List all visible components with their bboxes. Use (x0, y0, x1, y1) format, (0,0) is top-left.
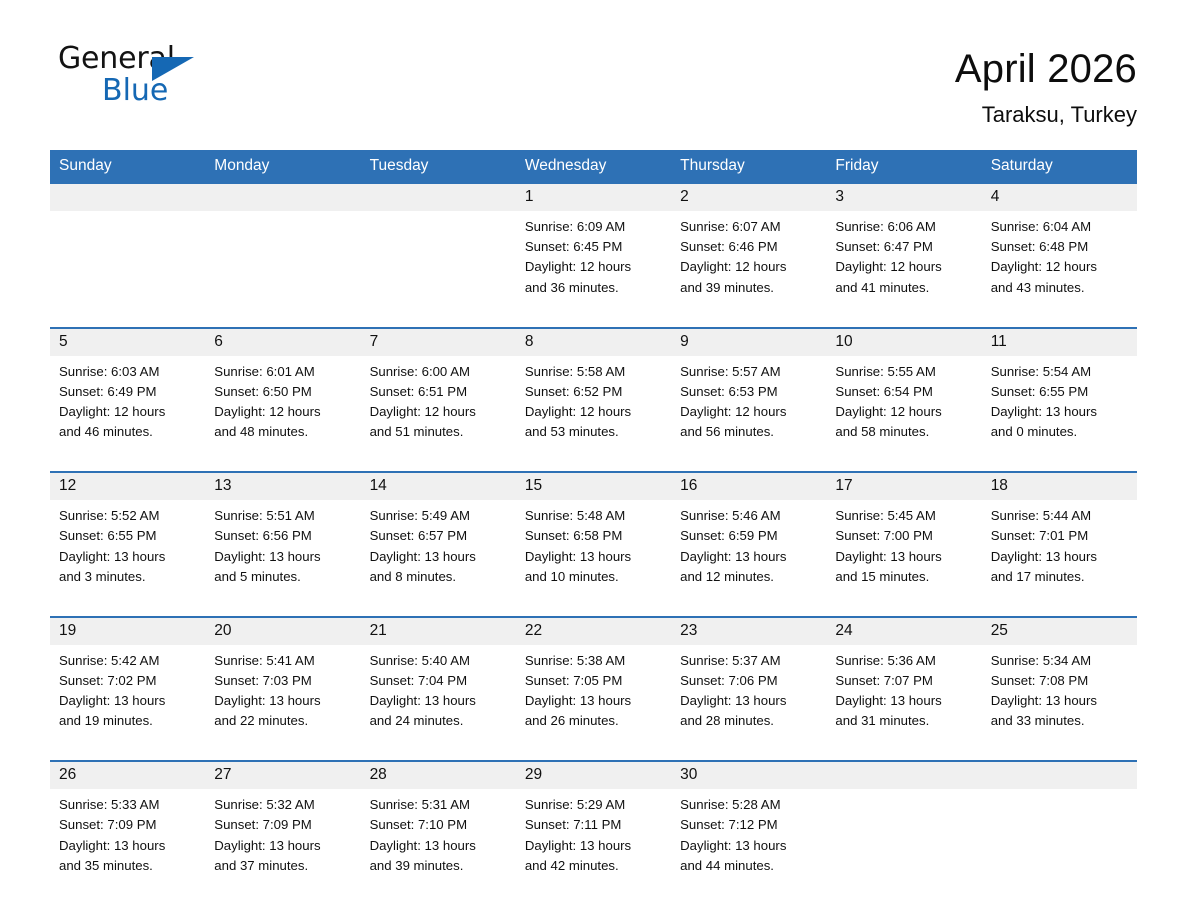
spacer-cell (50, 747, 205, 761)
weekday-header-sunday: Sunday (50, 150, 205, 183)
sunrise-text: Sunrise: 6:03 AM (59, 362, 195, 382)
spacer-cell (671, 458, 826, 472)
daylight-text: Daylight: 13 hours (214, 547, 350, 567)
sunset-text: Sunset: 6:53 PM (680, 382, 816, 402)
daylight-text: Daylight: 13 hours (370, 836, 506, 856)
daylight-text: Daylight: 12 hours (59, 402, 195, 422)
sunrise-text: Sunrise: 5:55 AM (835, 362, 971, 382)
day-number[interactable]: 8 (516, 328, 671, 356)
daylight-text: Daylight: 13 hours (59, 547, 195, 567)
spacer-cell (982, 603, 1137, 617)
sunset-text: Sunset: 7:01 PM (991, 526, 1127, 546)
day-cell-empty (826, 789, 981, 892)
daylight-text: Daylight: 12 hours (835, 402, 971, 422)
day-number[interactable]: 12 (50, 472, 205, 500)
sunset-text: Sunset: 6:55 PM (991, 382, 1127, 402)
spacer-cell (982, 458, 1137, 472)
day-cell[interactable]: Sunrise: 6:04 AMSunset: 6:48 PMDaylight:… (982, 211, 1137, 314)
daylight-text: Daylight: 13 hours (680, 691, 816, 711)
daylight-text: and 8 minutes. (370, 567, 506, 587)
daylight-text: Daylight: 13 hours (214, 691, 350, 711)
spacer-cell (671, 747, 826, 761)
sunrise-text: Sunrise: 5:58 AM (525, 362, 661, 382)
day-number[interactable]: 10 (826, 328, 981, 356)
daylight-text: Daylight: 12 hours (525, 257, 661, 277)
sunrise-text: Sunrise: 5:37 AM (680, 651, 816, 671)
week-daynumber-row: 1234 (50, 183, 1137, 211)
daylight-text: and 28 minutes. (680, 711, 816, 731)
daylight-text: Daylight: 13 hours (370, 691, 506, 711)
sunset-text: Sunset: 7:10 PM (370, 815, 506, 835)
day-number-empty (205, 183, 360, 211)
day-number-empty (50, 183, 205, 211)
day-number[interactable]: 22 (516, 617, 671, 645)
spacer-cell (516, 747, 671, 761)
day-number[interactable]: 29 (516, 761, 671, 789)
weekday-header-wednesday: Wednesday (516, 150, 671, 183)
sunrise-text: Sunrise: 6:09 AM (525, 217, 661, 237)
daylight-text: and 19 minutes. (59, 711, 195, 731)
day-cell-empty (50, 211, 205, 314)
sunrise-text: Sunrise: 5:41 AM (214, 651, 350, 671)
sunset-text: Sunset: 6:57 PM (370, 526, 506, 546)
sunrise-text: Sunrise: 5:54 AM (991, 362, 1127, 382)
spacer-cell (361, 603, 516, 617)
sunset-text: Sunset: 6:49 PM (59, 382, 195, 402)
sunrise-text: Sunrise: 5:36 AM (835, 651, 971, 671)
daylight-text: and 26 minutes. (525, 711, 661, 731)
weekday-header-tuesday: Tuesday (361, 150, 516, 183)
sunset-text: Sunset: 7:03 PM (214, 671, 350, 691)
sunrise-text: Sunrise: 5:52 AM (59, 506, 195, 526)
day-cell-empty (205, 211, 360, 314)
sunrise-text: Sunrise: 5:31 AM (370, 795, 506, 815)
sunrise-text: Sunrise: 5:45 AM (835, 506, 971, 526)
spacer-cell (982, 747, 1137, 761)
day-number[interactable]: 14 (361, 472, 516, 500)
sunrise-text: Sunrise: 5:34 AM (991, 651, 1127, 671)
day-cell[interactable]: Sunrise: 5:32 AMSunset: 7:09 PMDaylight:… (205, 789, 360, 892)
daylight-text: Daylight: 13 hours (370, 547, 506, 567)
day-cell[interactable]: Sunrise: 5:33 AMSunset: 7:09 PMDaylight:… (50, 789, 205, 892)
daylight-text: Daylight: 13 hours (214, 836, 350, 856)
sunrise-text: Sunrise: 6:07 AM (680, 217, 816, 237)
day-cell[interactable]: Sunrise: 5:38 AMSunset: 7:05 PMDaylight:… (516, 645, 671, 748)
week-spacer (50, 458, 1137, 472)
daylight-text: Daylight: 12 hours (370, 402, 506, 422)
daylight-text: Daylight: 13 hours (835, 547, 971, 567)
day-number[interactable]: 3 (826, 183, 981, 211)
day-cell[interactable]: Sunrise: 5:44 AMSunset: 7:01 PMDaylight:… (982, 500, 1137, 603)
day-number-empty (826, 761, 981, 789)
day-number[interactable]: 6 (205, 328, 360, 356)
week-spacer (50, 747, 1137, 761)
day-cell[interactable]: Sunrise: 5:46 AMSunset: 6:59 PMDaylight:… (671, 500, 826, 603)
sunrise-text: Sunrise: 5:29 AM (525, 795, 661, 815)
daylight-text: and 51 minutes. (370, 422, 506, 442)
sunset-text: Sunset: 7:06 PM (680, 671, 816, 691)
day-cell[interactable]: Sunrise: 5:28 AMSunset: 7:12 PMDaylight:… (671, 789, 826, 892)
sunset-text: Sunset: 7:12 PM (680, 815, 816, 835)
daylight-text: and 17 minutes. (991, 567, 1127, 587)
daylight-text: Daylight: 13 hours (59, 836, 195, 856)
daylight-text: and 0 minutes. (991, 422, 1127, 442)
sunset-text: Sunset: 6:56 PM (214, 526, 350, 546)
sunrise-text: Sunrise: 5:51 AM (214, 506, 350, 526)
sunset-text: Sunset: 7:11 PM (525, 815, 661, 835)
spacer-cell (361, 458, 516, 472)
page-header: General Blue April 2026 Taraksu, Turkey (0, 0, 1188, 127)
daylight-text: and 53 minutes. (525, 422, 661, 442)
spacer-cell (982, 314, 1137, 328)
sunrise-text: Sunrise: 6:00 AM (370, 362, 506, 382)
day-number[interactable]: 9 (671, 328, 826, 356)
sunset-text: Sunset: 7:09 PM (214, 815, 350, 835)
day-cell[interactable]: Sunrise: 5:41 AMSunset: 7:03 PMDaylight:… (205, 645, 360, 748)
daylight-text: Daylight: 13 hours (525, 836, 661, 856)
day-number[interactable]: 5 (50, 328, 205, 356)
day-cell[interactable]: Sunrise: 5:29 AMSunset: 7:11 PMDaylight:… (516, 789, 671, 892)
day-number[interactable]: 26 (50, 761, 205, 789)
spacer-cell (50, 314, 205, 328)
daylight-text: and 48 minutes. (214, 422, 350, 442)
daylight-text: Daylight: 13 hours (835, 691, 971, 711)
sunrise-text: Sunrise: 5:40 AM (370, 651, 506, 671)
sunrise-text: Sunrise: 5:42 AM (59, 651, 195, 671)
day-cell[interactable]: Sunrise: 6:06 AMSunset: 6:47 PMDaylight:… (826, 211, 981, 314)
spacer-cell (361, 314, 516, 328)
calendar-page: General Blue April 2026 Taraksu, Turkey … (0, 0, 1188, 918)
daylight-text: and 5 minutes. (214, 567, 350, 587)
daylight-text: Daylight: 12 hours (991, 257, 1127, 277)
sunset-text: Sunset: 6:58 PM (525, 526, 661, 546)
day-number-empty (982, 761, 1137, 789)
day-number[interactable]: 13 (205, 472, 360, 500)
sunset-text: Sunset: 6:48 PM (991, 237, 1127, 257)
daylight-text: Daylight: 13 hours (525, 691, 661, 711)
day-number[interactable]: 15 (516, 472, 671, 500)
weekday-header-friday: Friday (826, 150, 981, 183)
day-cell[interactable]: Sunrise: 5:55 AMSunset: 6:54 PMDaylight:… (826, 356, 981, 459)
day-cell[interactable]: Sunrise: 5:49 AMSunset: 6:57 PMDaylight:… (361, 500, 516, 603)
daylight-text: and 43 minutes. (991, 278, 1127, 298)
day-cell[interactable]: Sunrise: 5:58 AMSunset: 6:52 PMDaylight:… (516, 356, 671, 459)
week-detail-row: Sunrise: 5:42 AMSunset: 7:02 PMDaylight:… (50, 645, 1137, 748)
spacer-cell (50, 458, 205, 472)
day-cell[interactable]: Sunrise: 5:48 AMSunset: 6:58 PMDaylight:… (516, 500, 671, 603)
week-detail-row: Sunrise: 6:09 AMSunset: 6:45 PMDaylight:… (50, 211, 1137, 314)
daylight-text: and 42 minutes. (525, 856, 661, 876)
day-number-empty (361, 183, 516, 211)
daylight-text: Daylight: 13 hours (680, 547, 816, 567)
sunset-text: Sunset: 6:54 PM (835, 382, 971, 402)
day-cell[interactable]: Sunrise: 5:51 AMSunset: 6:56 PMDaylight:… (205, 500, 360, 603)
day-cell[interactable]: Sunrise: 5:37 AMSunset: 7:06 PMDaylight:… (671, 645, 826, 748)
day-cell[interactable]: Sunrise: 5:34 AMSunset: 7:08 PMDaylight:… (982, 645, 1137, 748)
sunset-text: Sunset: 7:07 PM (835, 671, 971, 691)
daylight-text: Daylight: 12 hours (214, 402, 350, 422)
day-cell[interactable]: Sunrise: 5:52 AMSunset: 6:55 PMDaylight:… (50, 500, 205, 603)
daylight-text: Daylight: 13 hours (680, 836, 816, 856)
spacer-cell (826, 603, 981, 617)
daylight-text: Daylight: 12 hours (525, 402, 661, 422)
spacer-cell (826, 314, 981, 328)
day-number[interactable]: 18 (982, 472, 1137, 500)
sunset-text: Sunset: 7:00 PM (835, 526, 971, 546)
sunset-text: Sunset: 6:45 PM (525, 237, 661, 257)
day-number[interactable]: 11 (982, 328, 1137, 356)
sunrise-text: Sunrise: 6:01 AM (214, 362, 350, 382)
sunset-text: Sunset: 6:51 PM (370, 382, 506, 402)
daylight-text: Daylight: 12 hours (680, 257, 816, 277)
daylight-text: and 56 minutes. (680, 422, 816, 442)
sunrise-text: Sunrise: 5:32 AM (214, 795, 350, 815)
daylight-text: Daylight: 13 hours (525, 547, 661, 567)
day-cell-empty (361, 211, 516, 314)
day-number[interactable]: 23 (671, 617, 826, 645)
spacer-cell (671, 603, 826, 617)
week-spacer (50, 603, 1137, 617)
day-number[interactable]: 21 (361, 617, 516, 645)
daylight-text: Daylight: 13 hours (59, 691, 195, 711)
general-blue-logo[interactable]: General Blue (58, 44, 198, 116)
week-daynumber-row: 2627282930 (50, 761, 1137, 789)
daylight-text: Daylight: 12 hours (835, 257, 971, 277)
spacer-cell (50, 603, 205, 617)
sunset-text: Sunset: 6:46 PM (680, 237, 816, 257)
day-cell[interactable]: Sunrise: 5:54 AMSunset: 6:55 PMDaylight:… (982, 356, 1137, 459)
daylight-text: and 15 minutes. (835, 567, 971, 587)
sunset-text: Sunset: 6:52 PM (525, 382, 661, 402)
sunset-text: Sunset: 6:59 PM (680, 526, 816, 546)
day-cell[interactable]: Sunrise: 5:42 AMSunset: 7:02 PMDaylight:… (50, 645, 205, 748)
sunrise-text: Sunrise: 5:38 AM (525, 651, 661, 671)
sunrise-text: Sunrise: 5:28 AM (680, 795, 816, 815)
triangle-icon (152, 57, 194, 81)
day-number[interactable]: 20 (205, 617, 360, 645)
sunrise-text: Sunrise: 5:57 AM (680, 362, 816, 382)
day-cell[interactable]: Sunrise: 6:07 AMSunset: 6:46 PMDaylight:… (671, 211, 826, 314)
day-number[interactable]: 19 (50, 617, 205, 645)
daylight-text: and 24 minutes. (370, 711, 506, 731)
spacer-cell (826, 458, 981, 472)
day-cell[interactable]: Sunrise: 5:36 AMSunset: 7:07 PMDaylight:… (826, 645, 981, 748)
sunset-text: Sunset: 7:04 PM (370, 671, 506, 691)
daylight-text: Daylight: 13 hours (991, 547, 1127, 567)
spacer-cell (205, 458, 360, 472)
daylight-text: and 31 minutes. (835, 711, 971, 731)
day-cell[interactable]: Sunrise: 5:31 AMSunset: 7:10 PMDaylight:… (361, 789, 516, 892)
daylight-text: Daylight: 12 hours (680, 402, 816, 422)
daylight-text: and 39 minutes. (680, 278, 816, 298)
day-cell[interactable]: Sunrise: 6:09 AMSunset: 6:45 PMDaylight:… (516, 211, 671, 314)
week-detail-row: Sunrise: 6:03 AMSunset: 6:49 PMDaylight:… (50, 356, 1137, 459)
day-number[interactable]: 27 (205, 761, 360, 789)
page-title: April 2026 (955, 46, 1137, 92)
week-daynumber-row: 19202122232425 (50, 617, 1137, 645)
calendar-body: 1234Sunrise: 6:09 AMSunset: 6:45 PMDayli… (50, 183, 1137, 892)
day-cell[interactable]: Sunrise: 5:45 AMSunset: 7:00 PMDaylight:… (826, 500, 981, 603)
weekday-header-thursday: Thursday (671, 150, 826, 183)
sunset-text: Sunset: 7:08 PM (991, 671, 1127, 691)
sunrise-text: Sunrise: 6:06 AM (835, 217, 971, 237)
daylight-text: and 10 minutes. (525, 567, 661, 587)
spacer-cell (826, 747, 981, 761)
sunset-text: Sunset: 7:05 PM (525, 671, 661, 691)
daylight-text: and 44 minutes. (680, 856, 816, 876)
day-number[interactable]: 1 (516, 183, 671, 211)
sunset-text: Sunset: 7:02 PM (59, 671, 195, 691)
sunrise-text: Sunrise: 5:46 AM (680, 506, 816, 526)
calendar-table: Sunday Monday Tuesday Wednesday Thursday… (50, 150, 1137, 892)
sunrise-text: Sunrise: 5:44 AM (991, 506, 1127, 526)
daylight-text: and 22 minutes. (214, 711, 350, 731)
daylight-text: and 12 minutes. (680, 567, 816, 587)
sunrise-text: Sunrise: 5:49 AM (370, 506, 506, 526)
location-subtitle: Taraksu, Turkey (955, 103, 1137, 127)
day-cell[interactable]: Sunrise: 6:01 AMSunset: 6:50 PMDaylight:… (205, 356, 360, 459)
weekday-header-saturday: Saturday (982, 150, 1137, 183)
day-number[interactable]: 16 (671, 472, 826, 500)
day-number[interactable]: 4 (982, 183, 1137, 211)
daylight-text: Daylight: 13 hours (991, 691, 1127, 711)
daylight-text: and 36 minutes. (525, 278, 661, 298)
day-number[interactable]: 28 (361, 761, 516, 789)
day-number[interactable]: 7 (361, 328, 516, 356)
spacer-cell (205, 314, 360, 328)
day-cell[interactable]: Sunrise: 6:03 AMSunset: 6:49 PMDaylight:… (50, 356, 205, 459)
day-number[interactable]: 17 (826, 472, 981, 500)
sunset-text: Sunset: 7:09 PM (59, 815, 195, 835)
daylight-text: and 41 minutes. (835, 278, 971, 298)
daylight-text: and 35 minutes. (59, 856, 195, 876)
week-spacer (50, 314, 1137, 328)
daylight-text: and 37 minutes. (214, 856, 350, 876)
title-block: April 2026 Taraksu, Turkey (955, 44, 1137, 127)
day-number[interactable]: 2 (671, 183, 826, 211)
spacer-cell (516, 314, 671, 328)
day-number[interactable]: 25 (982, 617, 1137, 645)
sunrise-text: Sunrise: 5:33 AM (59, 795, 195, 815)
sunset-text: Sunset: 6:55 PM (59, 526, 195, 546)
sunrise-text: Sunrise: 6:04 AM (991, 217, 1127, 237)
sunset-text: Sunset: 6:47 PM (835, 237, 971, 257)
daylight-text: and 3 minutes. (59, 567, 195, 587)
day-cell[interactable]: Sunrise: 5:40 AMSunset: 7:04 PMDaylight:… (361, 645, 516, 748)
calendar-container: Sunday Monday Tuesday Wednesday Thursday… (50, 150, 1137, 892)
daylight-text: and 39 minutes. (370, 856, 506, 876)
spacer-cell (516, 603, 671, 617)
day-cell-empty (982, 789, 1137, 892)
weekday-header-monday: Monday (205, 150, 360, 183)
calendar-header-row: Sunday Monday Tuesday Wednesday Thursday… (50, 150, 1137, 183)
week-detail-row: Sunrise: 5:33 AMSunset: 7:09 PMDaylight:… (50, 789, 1137, 892)
day-number[interactable]: 24 (826, 617, 981, 645)
week-daynumber-row: 12131415161718 (50, 472, 1137, 500)
sunset-text: Sunset: 6:50 PM (214, 382, 350, 402)
spacer-cell (205, 747, 360, 761)
sunrise-text: Sunrise: 5:48 AM (525, 506, 661, 526)
daylight-text: Daylight: 13 hours (991, 402, 1127, 422)
week-daynumber-row: 567891011 (50, 328, 1137, 356)
spacer-cell (361, 747, 516, 761)
daylight-text: and 46 minutes. (59, 422, 195, 442)
day-cell[interactable]: Sunrise: 6:00 AMSunset: 6:51 PMDaylight:… (361, 356, 516, 459)
day-number[interactable]: 30 (671, 761, 826, 789)
week-detail-row: Sunrise: 5:52 AMSunset: 6:55 PMDaylight:… (50, 500, 1137, 603)
spacer-cell (671, 314, 826, 328)
daylight-text: and 58 minutes. (835, 422, 971, 442)
spacer-cell (516, 458, 671, 472)
spacer-cell (205, 603, 360, 617)
day-cell[interactable]: Sunrise: 5:57 AMSunset: 6:53 PMDaylight:… (671, 356, 826, 459)
daylight-text: and 33 minutes. (991, 711, 1127, 731)
